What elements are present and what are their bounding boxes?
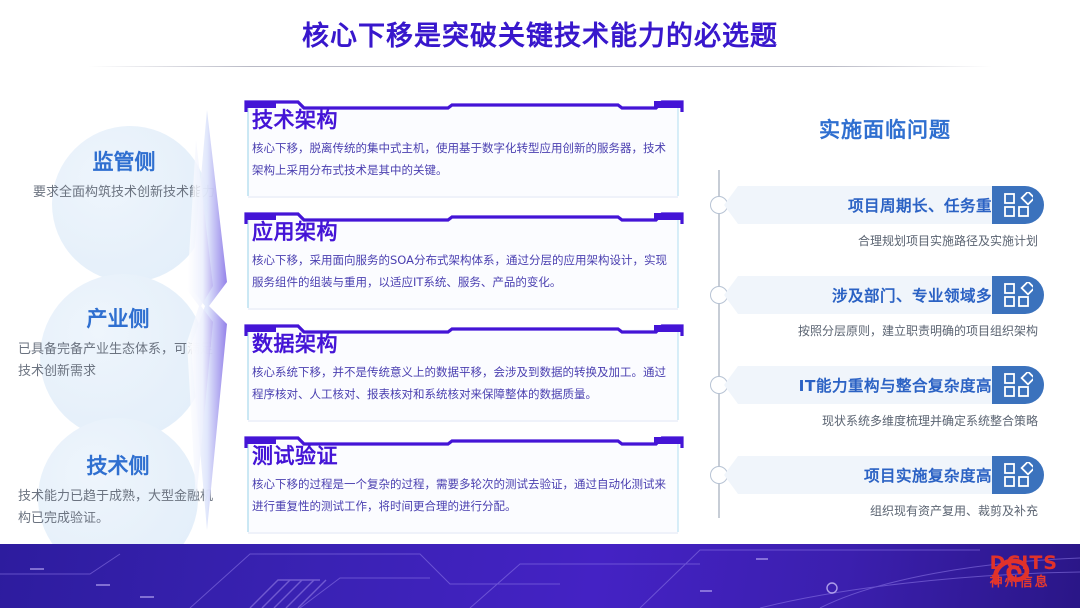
issue-label: 涉及部门、专业领域多 <box>832 284 992 306</box>
footer-circuit-decoration <box>0 544 1080 608</box>
page-title: 核心下移是突破关键技术能力的必选题 <box>0 14 1080 53</box>
card-title: 测试验证 <box>252 443 674 469</box>
issue-subtitle: 合理规划项目实施路径及实施计划 <box>724 232 1044 249</box>
card-test-verification[interactable]: 测试验证 核心下移的过程是一个复杂的过程，需要多轮次的测试去验证，通过自动化测试… <box>238 432 690 536</box>
shapes-grid-icon <box>992 366 1044 404</box>
issue-label: IT能力重构与整合复杂度高 <box>799 374 992 396</box>
issue-pill[interactable]: 涉及部门、专业领域多 <box>724 276 1044 314</box>
issue-item[interactable]: 项目周期长、任务重 合理规划项目实施路径及实施计划 <box>724 186 1044 249</box>
card-title: 技术架构 <box>252 107 674 133</box>
issue-label: 项目周期长、任务重 <box>848 194 992 216</box>
card-description: 核心下移，采用面向服务的SOA分布式架构体系，通过分层的应用架构设计，实现服务组… <box>252 250 674 293</box>
slide-root: 核心下移是突破关键技术能力的必选题 监管侧 要求全面构筑技术创新技术能力 产业侧… <box>0 0 1080 608</box>
shapes-grid-icon <box>992 186 1044 224</box>
issue-pill[interactable]: 项目周期长、任务重 <box>724 186 1044 224</box>
card-content: 应用架构 核心下移，采用面向服务的SOA分布式架构体系，通过分层的应用架构设计，… <box>248 217 682 310</box>
issues-panel: 实施面临问题 项目周期长、任务重 合理规划项目实施路径及实施计划 <box>700 100 1070 530</box>
issue-pill[interactable]: IT能力重构与整合复杂度高 <box>724 366 1044 404</box>
ribbon-arrow-decoration <box>183 110 229 530</box>
card-description: 核心下移，脱离传统的集中式主机，使用基于数字化转型应用创新的服务器，技术架构上采… <box>252 138 674 181</box>
shapes-grid-icon <box>992 276 1044 314</box>
card-content: 技术架构 核心下移，脱离传统的集中式主机，使用基于数字化转型应用创新的服务器，技… <box>248 105 682 198</box>
issue-item[interactable]: 涉及部门、专业领域多 按照分层原则，建立职责明确的项目组织架构 <box>724 276 1044 339</box>
brand-logo: DCITS 神州信息 <box>990 554 1058 589</box>
shapes-grid-icon <box>992 456 1044 494</box>
card-description: 核心系统下移，并不是传统意义上的数据平移，会涉及到数据的转换及加工。通过程序核对… <box>252 362 674 405</box>
issue-label: 项目实施复杂度高 <box>864 464 992 486</box>
issue-subtitle: 组织现有资产复用、裁剪及补充 <box>724 502 1044 519</box>
issue-item[interactable]: IT能力重构与整合复杂度高 现状系统多维度梳理并确定系统整合策略 <box>724 366 1044 429</box>
issue-subtitle: 按照分层原则，建立职责明确的项目组织架构 <box>724 322 1044 339</box>
card-application-architecture[interactable]: 应用架构 核心下移，采用面向服务的SOA分布式架构体系，通过分层的应用架构设计，… <box>238 208 690 312</box>
card-title: 应用架构 <box>252 219 674 245</box>
issue-item[interactable]: 项目实施复杂度高 组织现有资产复用、裁剪及补充 <box>724 456 1044 519</box>
card-content: 数据架构 核心系统下移，并不是传统意义上的数据平移，会涉及到数据的转换及加工。通… <box>248 329 682 422</box>
issue-subtitle: 现状系统多维度梳理并确定系统整合策略 <box>724 412 1044 429</box>
card-content: 测试验证 核心下移的过程是一个复杂的过程，需要多轮次的测试去验证，通过自动化测试… <box>248 441 682 534</box>
issues-panel-title: 实施面临问题 <box>700 114 1070 144</box>
page-title-area: 核心下移是突破关键技术能力的必选题 <box>0 14 1080 53</box>
card-data-architecture[interactable]: 数据架构 核心系统下移，并不是传统意义上的数据平移，会涉及到数据的转换及加工。通… <box>238 320 690 424</box>
card-title: 数据架构 <box>252 331 674 357</box>
title-divider <box>88 66 992 67</box>
footer-band: DCITS 神州信息 <box>0 544 1080 608</box>
dcits-swirl-logo <box>990 554 1032 592</box>
card-tech-architecture[interactable]: 技术架构 核心下移，脱离传统的集中式主机，使用基于数字化转型应用创新的服务器，技… <box>238 96 690 200</box>
card-description: 核心下移的过程是一个复杂的过程，需要多轮次的测试去验证，通过自动化测试来进行重复… <box>252 474 674 517</box>
architecture-cards: 技术架构 核心下移，脱离传统的集中式主机，使用基于数字化转型应用创新的服务器，技… <box>238 96 690 544</box>
issue-pill[interactable]: 项目实施复杂度高 <box>724 456 1044 494</box>
